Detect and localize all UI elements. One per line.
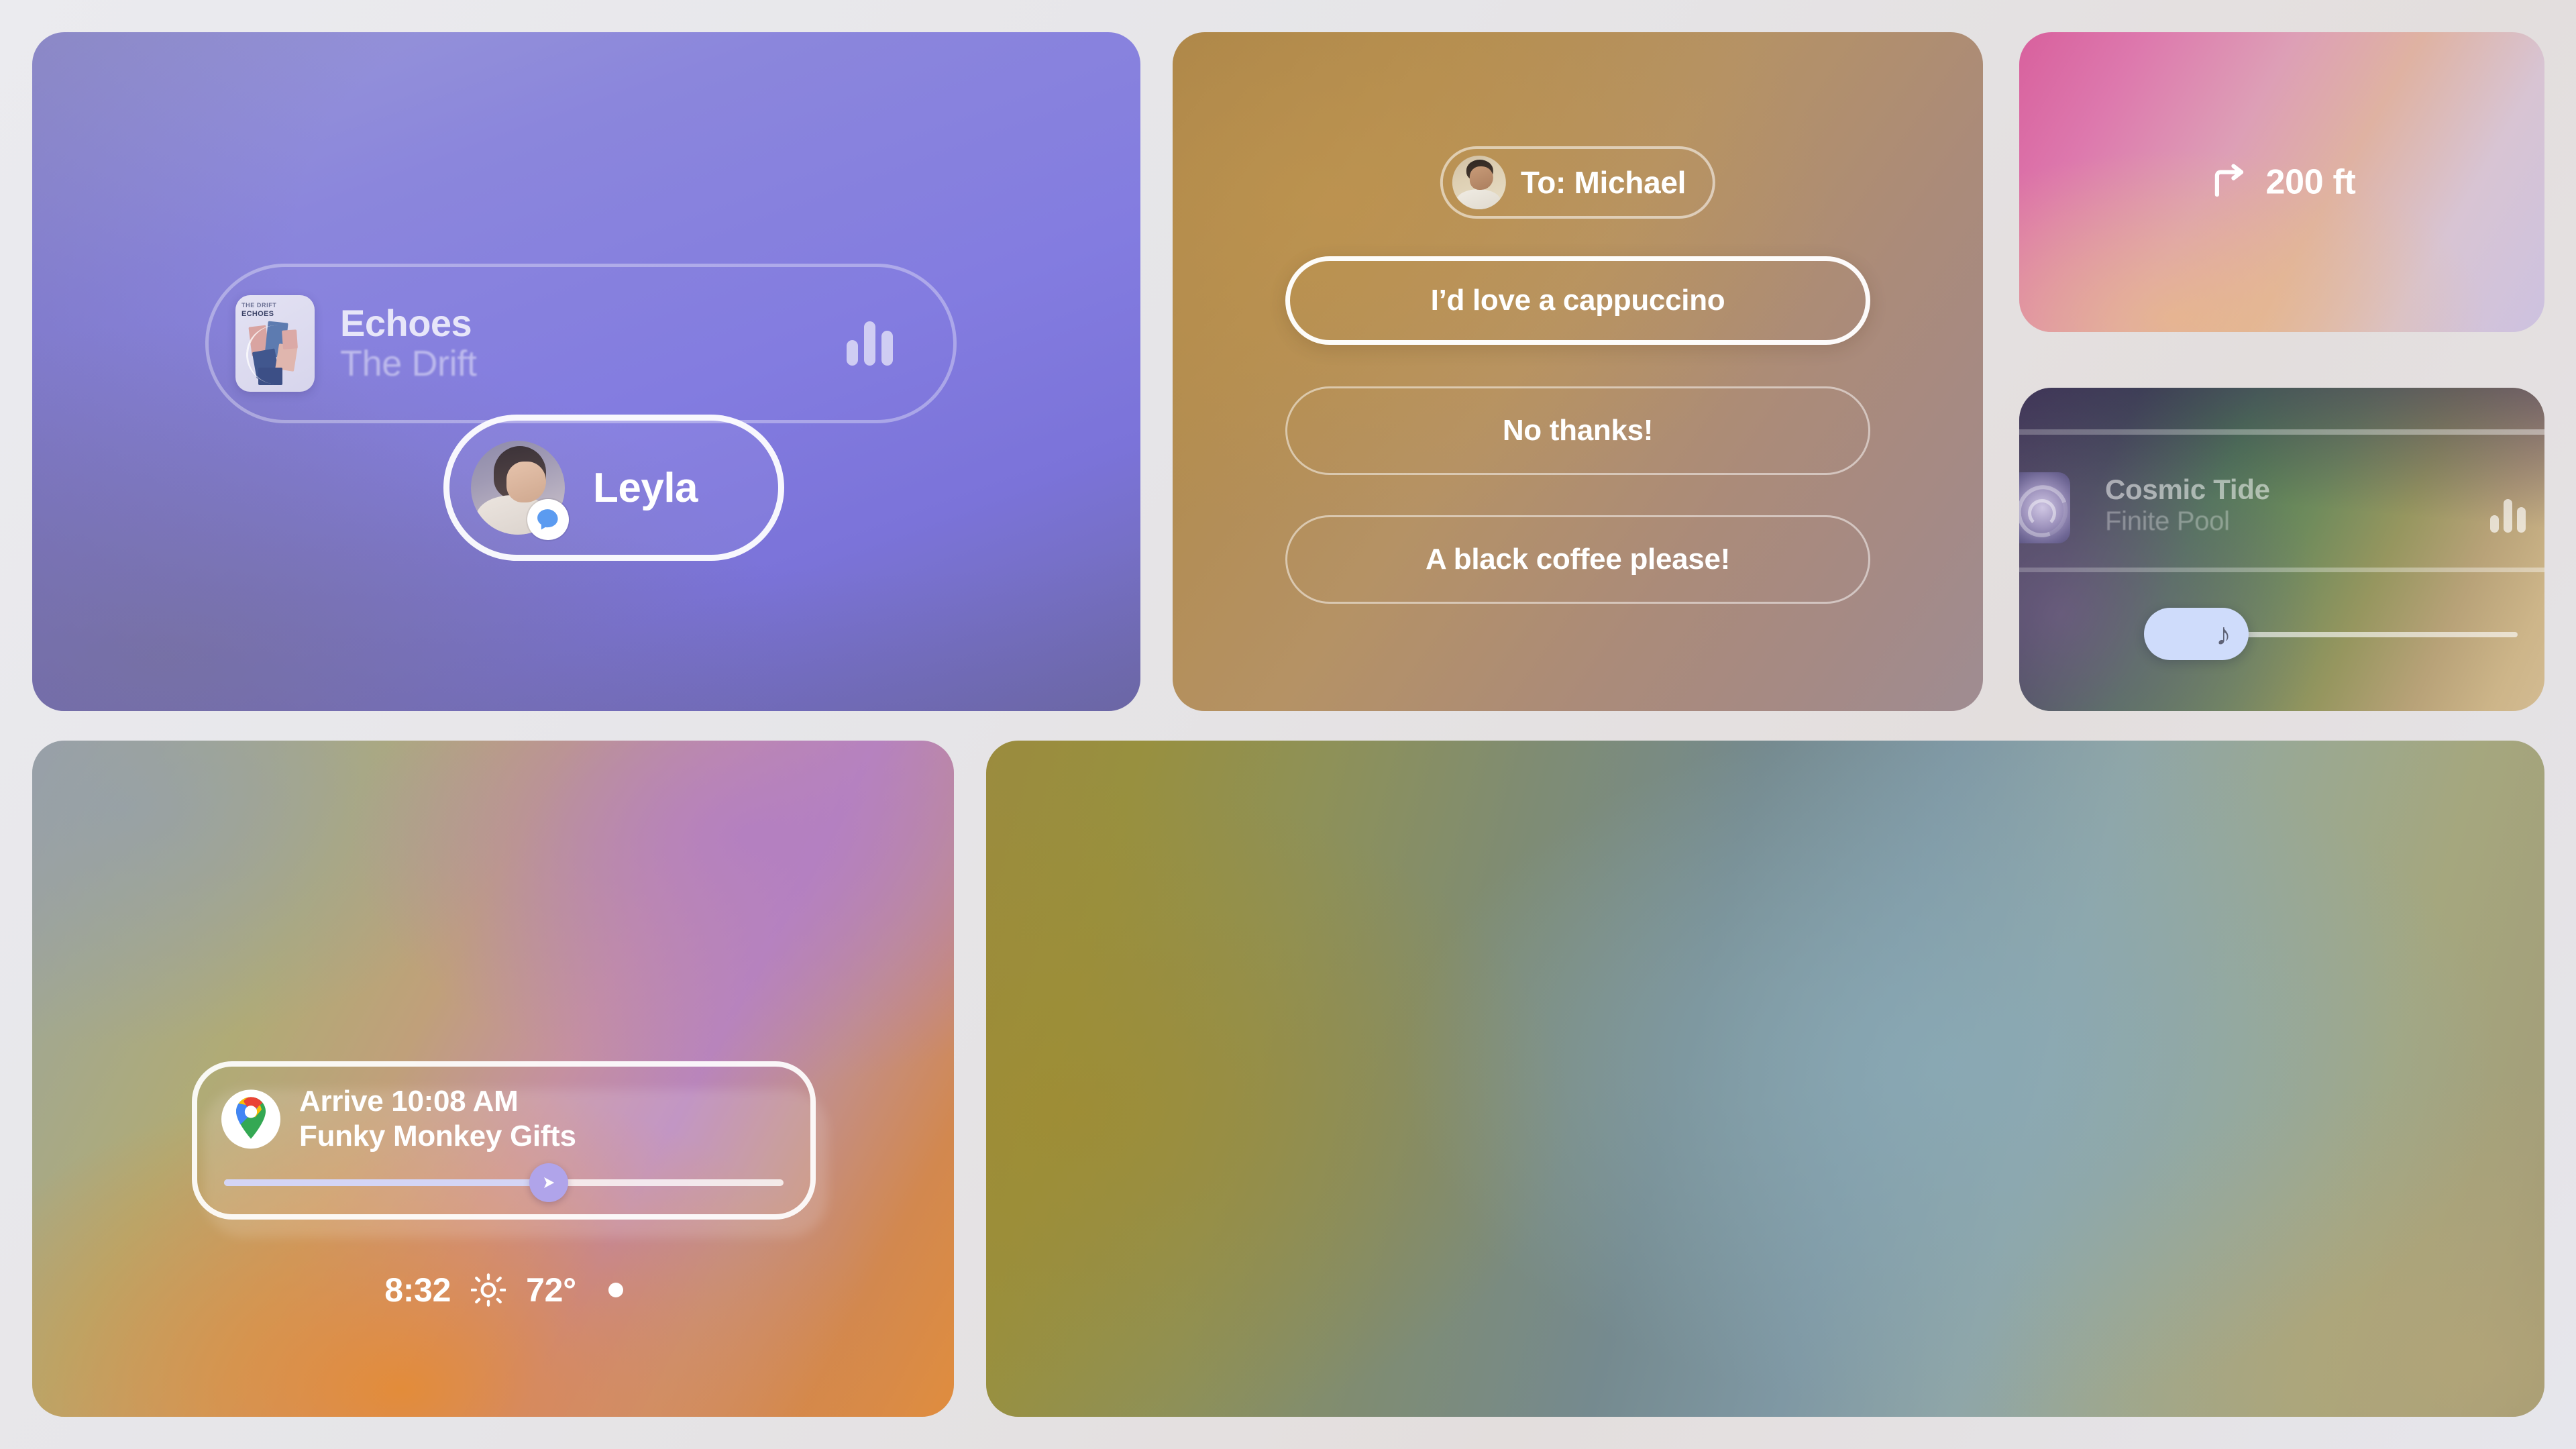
equalizer-bars-icon xyxy=(847,321,893,366)
reply-option-label: A black coffee please! xyxy=(1426,543,1730,576)
now-playing-card[interactable]: THE DRIFT ECHOES Echoes The Drift Le xyxy=(32,32,1140,711)
track-title: Echoes xyxy=(340,303,476,343)
reply-suggestions-card[interactable]: To: Michael I’d love a cappuccino No tha… xyxy=(1173,32,1983,711)
temperature-label: 72° xyxy=(526,1271,576,1309)
reply-option-label: I’d love a cappuccino xyxy=(1431,284,1725,317)
route-progress-track[interactable] xyxy=(224,1179,784,1186)
maneuver-row: 200 ft xyxy=(2208,160,2355,205)
divider-mid xyxy=(2019,568,2544,572)
avatar-leyla xyxy=(471,441,565,535)
album-art-label-top: THE DRIFT xyxy=(241,302,276,309)
now-playing-text: Echoes The Drift xyxy=(340,303,476,384)
divider-top xyxy=(2019,429,2544,435)
reply-option[interactable]: No thanks! xyxy=(1285,386,1870,475)
now-playing-pill[interactable]: THE DRIFT ECHOES Echoes The Drift xyxy=(205,264,957,423)
equalizer-bars-icon xyxy=(2490,499,2526,533)
album-art-label-bottom: ECHOES xyxy=(241,310,274,318)
route-progress-fill xyxy=(224,1179,549,1186)
eta-destination-label: Funky Monkey Gifts xyxy=(299,1119,576,1154)
status-dot xyxy=(608,1283,623,1297)
reply-option[interactable]: A black coffee please! xyxy=(1285,515,1870,604)
cosmic-subtitle: Finite Pool xyxy=(2105,506,2270,537)
music-note-icon: ♪ xyxy=(2216,619,2231,649)
distance-label: 200 ft xyxy=(2265,162,2355,203)
google-maps-pin-icon xyxy=(221,1087,280,1157)
avatar-michael xyxy=(1452,156,1506,209)
eta-header: Arrive 10:08 AM Funky Monkey Gifts xyxy=(221,1084,786,1157)
contact-pill-leyla[interactable]: Leyla xyxy=(443,415,784,561)
eta-time-label: Arrive 10:08 AM xyxy=(299,1084,576,1119)
cosmic-text: Cosmic Tide Finite Pool xyxy=(2105,474,2270,537)
navigation-eta-card[interactable]: Arrive 10:08 AM Funky Monkey Gifts 8:32 … xyxy=(32,741,954,1417)
cosmic-tide-card[interactable]: Cosmic Tide Finite Pool ♪ xyxy=(2019,388,2544,711)
track-artist: The Drift xyxy=(340,343,476,384)
contact-name: Leyla xyxy=(593,464,698,512)
turn-right-icon xyxy=(2208,160,2249,205)
cosmic-title: Cosmic Tide xyxy=(2105,474,2270,506)
spiral-artwork-icon xyxy=(2019,472,2070,543)
navigation-arrow-icon[interactable] xyxy=(529,1163,568,1202)
recipient-label: To: Michael xyxy=(1521,164,1686,201)
sun-icon xyxy=(471,1273,506,1307)
cosmic-progress-thumb[interactable]: ♪ xyxy=(2144,608,2249,660)
status-row: 8:32 72° xyxy=(192,1271,816,1309)
reply-option[interactable]: I’d love a cappuccino xyxy=(1285,256,1870,345)
incoming-message-card[interactable]: Leyla Do you want anything from Cafe Cor… xyxy=(986,741,2544,1417)
eta-pill[interactable]: Arrive 10:08 AM Funky Monkey Gifts xyxy=(192,1061,816,1220)
clock-label: 8:32 xyxy=(384,1271,451,1309)
cosmic-progress-track[interactable] xyxy=(2215,632,2518,637)
recipient-pill[interactable]: To: Michael xyxy=(1440,146,1715,219)
reply-option-label: No thanks! xyxy=(1503,414,1653,447)
messages-bubble-icon xyxy=(527,499,569,541)
album-artwork: THE DRIFT ECHOES xyxy=(235,295,315,392)
navigation-card[interactable]: 200 ft xyxy=(2019,32,2544,332)
eta-text: Arrive 10:08 AM Funky Monkey Gifts xyxy=(299,1084,576,1154)
widget-dashboard: THE DRIFT ECHOES Echoes The Drift Le xyxy=(0,0,2576,1449)
